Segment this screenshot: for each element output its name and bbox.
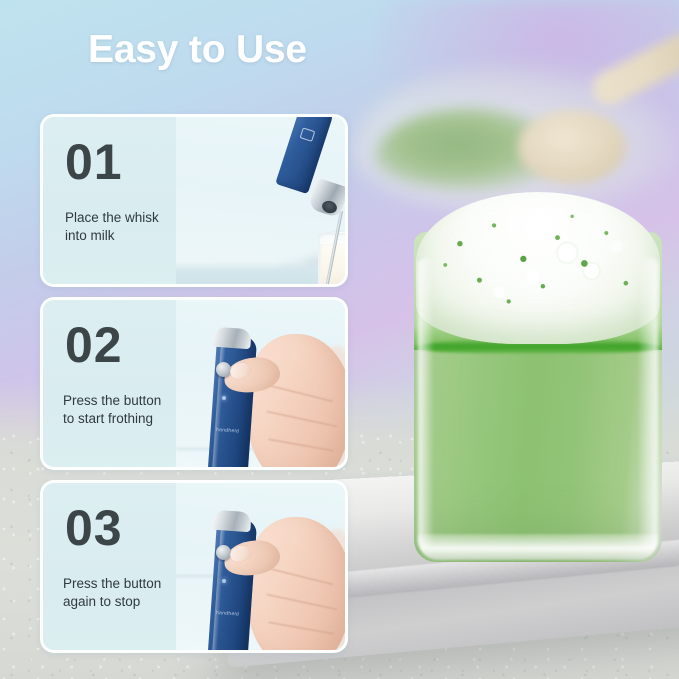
- step-card-01: 01 Place the whisk into milk: [40, 114, 348, 287]
- step-text-panel: 03 Press the button again to stop: [43, 483, 176, 650]
- page-title: Easy to Use: [88, 28, 307, 72]
- frother-led-indicator: [222, 579, 226, 583]
- matcha-specks: [416, 192, 660, 344]
- wooden-spoon-bowl: [518, 110, 626, 184]
- step-card-02: 02 Press the button to start frothing ha…: [40, 297, 348, 470]
- step-card-03: 03 Press the button again to stop handhe…: [40, 480, 348, 653]
- step-number: 02: [65, 320, 123, 370]
- brand-logo-icon: [300, 127, 316, 141]
- frother-power-button[interactable]: [216, 362, 231, 377]
- frother-led-indicator: [222, 396, 226, 400]
- step-text-panel: 01 Place the whisk into milk: [43, 117, 176, 284]
- step-description: Place the whisk into milk: [65, 209, 173, 245]
- step-description: Press the button to start frothing: [63, 392, 175, 428]
- step-description: Press the button again to stop: [63, 575, 175, 611]
- step-photo-panel: handheld: [176, 483, 345, 650]
- step-text-panel: 02 Press the button to start frothing: [43, 300, 176, 467]
- step-number: 01: [65, 137, 123, 187]
- frother-power-button[interactable]: [216, 545, 231, 560]
- step-photo-panel: [176, 117, 345, 284]
- glass-highlight-right: [638, 258, 658, 548]
- frother-cap: [212, 510, 251, 533]
- infographic-page: Easy to Use 01 Place the whisk into milk…: [0, 0, 679, 679]
- glass-base-shine: [418, 534, 658, 560]
- matcha-latte-glass: [414, 198, 662, 570]
- step-number: 03: [65, 503, 123, 553]
- frother-cap: [212, 327, 251, 350]
- step-photo-panel: handheld: [176, 300, 345, 467]
- glass-highlight-left: [418, 258, 434, 548]
